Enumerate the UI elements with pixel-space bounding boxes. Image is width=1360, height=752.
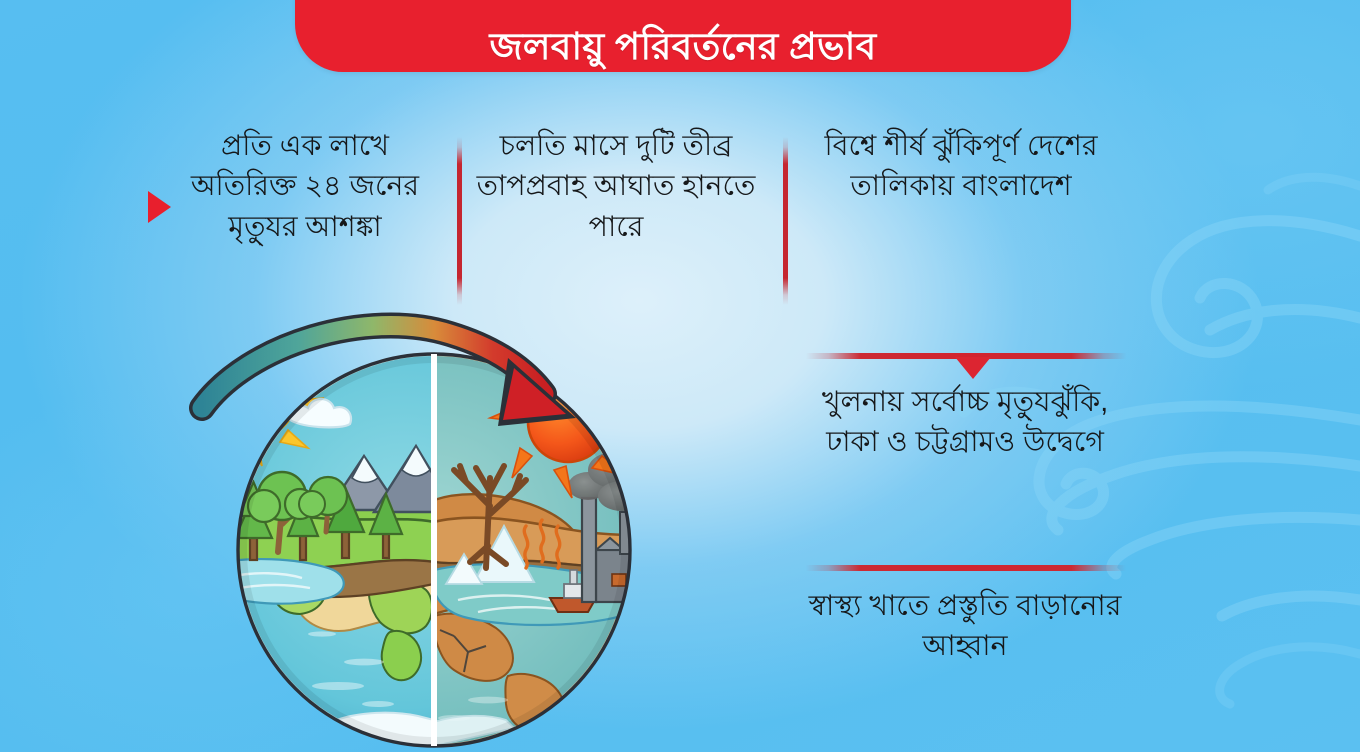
title-banner: জলবায়ু পরিবর্তনের প্রভাব bbox=[295, 0, 1071, 72]
fact-text-3c: স্বাস্থ্য খাতে প্রস্তুতি বাড়ানোর আহ্বান bbox=[806, 586, 1124, 667]
horizontal-divider-2 bbox=[806, 565, 1126, 571]
fact-text-1: প্রতি এক লাখে অতিরিক্ত ২৪ জনের মৃতু্যর আ… bbox=[150, 126, 442, 247]
vertical-divider-1 bbox=[457, 137, 462, 305]
divider-notch-icon bbox=[955, 357, 991, 379]
infographic-canvas: জলবায়ু পরিবর্তনের প্রভাব প্রতি এক লাখে … bbox=[0, 0, 1360, 752]
fact-column-3-block-2: খুলনায় সর্বোচ্চ মৃতু্যঝুঁকি, ঢাকা ও চট্… bbox=[806, 382, 1124, 463]
page-title: জলবায়ু পরিবর্তনের প্রভাব bbox=[489, 28, 876, 65]
fact-column-1: প্রতি এক লাখে অতিরিক্ত ২৪ জনের মৃতু্যর আ… bbox=[150, 126, 442, 247]
fact-text-3a: বিশ্বে শীর্ষ ঝুঁকিপূর্ণ দেশের তালিকায় ব… bbox=[806, 126, 1116, 207]
fact-column-2: চলতি মাসে দুটি তীব্র তাপপ্রবাহ আঘাত হানত… bbox=[468, 126, 764, 247]
fact-column-3-block-1: বিশ্বে শীর্ষ ঝুঁকিপূর্ণ দেশের তালিকায় ব… bbox=[806, 126, 1116, 207]
vertical-divider-2 bbox=[783, 137, 788, 305]
fact-text-3b: খুলনায় সর্বোচ্চ মৃতু্যঝুঁকি, ঢাকা ও চট্… bbox=[806, 382, 1124, 463]
fact-text-2: চলতি মাসে দুটি তীব্র তাপপ্রবাহ আঘাত হানত… bbox=[468, 126, 764, 247]
fact-column-3-block-3: স্বাস্থ্য খাতে প্রস্তুতি বাড়ানোর আহ্বান bbox=[806, 586, 1124, 667]
split-earth-illustration bbox=[178, 300, 690, 750]
